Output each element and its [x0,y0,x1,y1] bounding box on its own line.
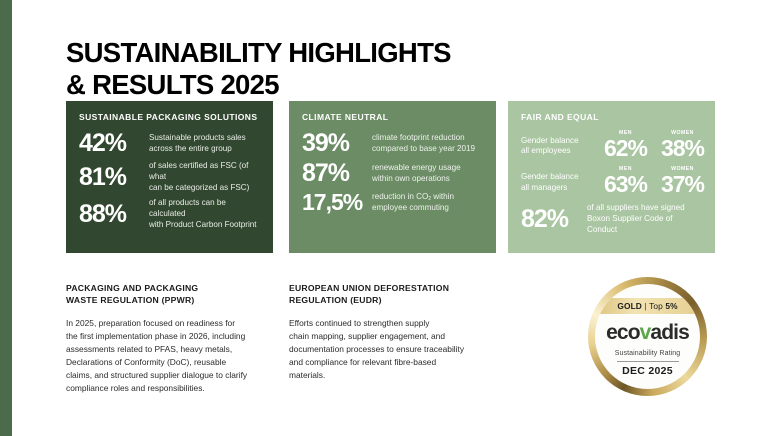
card-sustainable-packaging: SUSTAINABLE PACKAGING SOLUTIONS 42% Sust… [66,101,273,253]
stat-desc-pre: reduction in CO [372,192,428,201]
gender-row-employees: Gender balance all employees MEN 62% WOM… [521,131,703,160]
stat-row: 42% Sustainable products sales across th… [79,131,261,156]
stat-value: 17,5% [302,191,370,214]
stat-value: 81% [79,165,147,190]
page-title: SUSTAINABILITY HIGHLIGHTS & RESULTS 2025 [66,37,451,101]
gender-women-block: WOMEN 37% [654,167,711,196]
logo-text-post: adis [650,321,688,344]
gender-men-block: MEN 63% [597,167,654,196]
gender-men-block: MEN 62% [597,131,654,160]
medal-divider [617,361,679,362]
stat-row: 88% of all products can be calculated wi… [79,198,261,230]
stat-value: 39% [302,131,370,156]
stat-row: 17,5% reduction in CO2 within employee c… [302,191,484,214]
gender-row-label: Gender balance all employees [521,136,597,161]
gender-value-women: 37% [654,173,711,196]
stat-row: 39% climate footprint reduction compared… [302,131,484,156]
medal-gold-banner: GOLD | Top 5% [595,298,700,314]
regulation-block-ppwr: PACKAGING AND PACKAGING WASTE REGULATION… [66,282,274,395]
gender-women-block: WOMEN 38% [654,131,711,160]
supplier-value: 82% [521,207,587,232]
gender-row-label: Gender balance all managers [521,172,597,197]
stat-description: of all products can be calculated with P… [147,198,261,230]
ecovadis-medal-badge: GOLD | Top 5% ecovadis Sustainability Ra… [588,277,707,396]
logo-text-pre: eco [606,321,640,344]
medal-top-percent: 5% [665,301,677,311]
gender-value-men: 62% [597,137,654,160]
card-title: FAIR AND EQUAL [521,112,703,122]
stat-description: of sales certified as FSC (of what can b… [147,161,261,193]
stat-row: 87% renewable energy usage within own op… [302,161,484,186]
regulation-title: PACKAGING AND PACKAGING WASTE REGULATION… [66,282,274,306]
regulation-block-eudr: EUROPEAN UNION DEFORESTATION REGULATION … [289,282,501,382]
supplier-description: of all suppliers have signed Boxon Suppl… [587,203,703,235]
gender-value-men: 63% [597,173,654,196]
ecovadis-logo: ecovadis [606,322,689,343]
leaf-icon: v [640,321,651,344]
card-title: CLIMATE NEUTRAL [302,112,484,122]
stat-description: Sustainable products sales across the en… [147,133,246,155]
regulation-body: Efforts continued to strengthen supply c… [289,317,501,381]
medal-inner-face: GOLD | Top 5% ecovadis Sustainability Ra… [595,284,700,389]
medal-date-label: DEC 2025 [622,365,673,377]
regulation-body: In 2025, preparation focused on readines… [66,317,274,394]
supplier-code-row: 82% of all suppliers have signed Boxon S… [521,203,703,235]
stat-description: climate footprint reduction compared to … [370,133,475,155]
gender-value-women: 38% [654,137,711,160]
regulation-title: EUROPEAN UNION DEFORESTATION REGULATION … [289,282,501,306]
medal-top-word: Top [649,301,663,311]
medal-rating-label: Sustainability Rating [615,350,681,357]
stat-value: 88% [79,202,147,227]
stat-description: renewable energy usage within own operat… [370,163,461,185]
stat-description: reduction in CO2 within employee commuti… [370,192,454,214]
accent-stripe [0,0,12,436]
card-climate-neutral: CLIMATE NEUTRAL 39% climate footprint re… [289,101,496,253]
highlight-cards: SUSTAINABLE PACKAGING SOLUTIONS 42% Sust… [66,101,715,253]
card-title: SUSTAINABLE PACKAGING SOLUTIONS [79,112,261,122]
stat-row: 81% of sales certified as FSC (of what c… [79,161,261,193]
medal-level-label: GOLD [617,301,642,311]
card-fair-and-equal: FAIR AND EQUAL Gender balance all employ… [508,101,715,253]
stat-value: 87% [302,161,370,186]
stat-value: 42% [79,131,147,156]
gender-row-managers: Gender balance all managers MEN 63% WOME… [521,167,703,196]
